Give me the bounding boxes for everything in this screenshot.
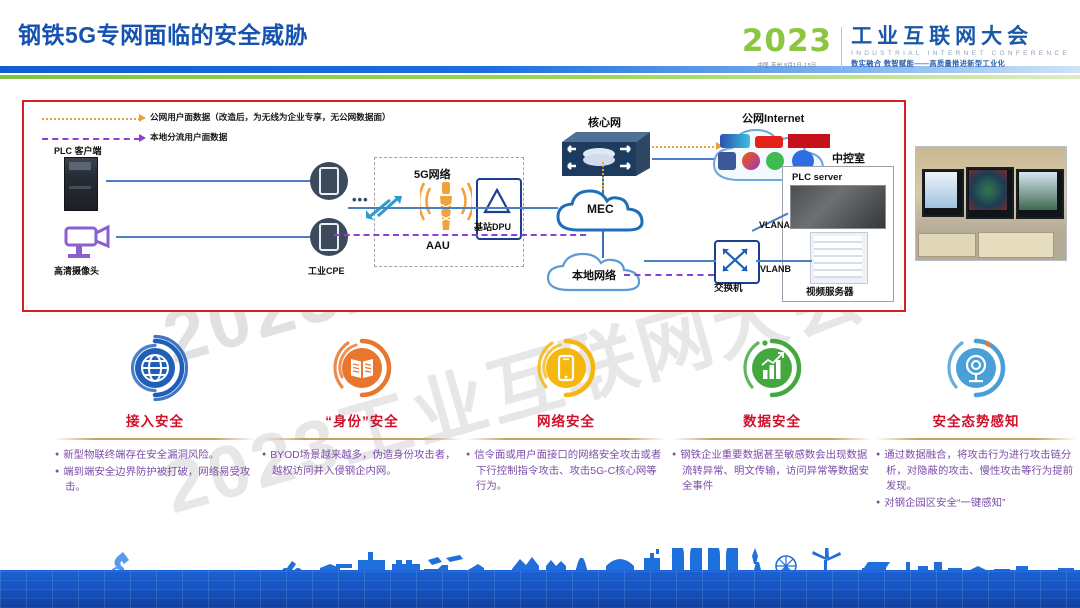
legend-dashed-arrowhead — [139, 134, 146, 142]
legend-dashed-arrow — [42, 138, 140, 140]
legend-label-local: 本地分流用户面数据 — [150, 131, 227, 143]
link-local-to-switch — [644, 260, 716, 262]
core-network-label: 核心网 — [588, 114, 621, 130]
plc-client-icon-detail2 — [69, 186, 91, 189]
radar-icon-wrap — [876, 330, 1076, 406]
logo-slogan: 数实融合 数智赋能——高质量推进新型工业化 — [851, 59, 1070, 69]
link-camera-to-cpe — [116, 236, 310, 238]
globe-icon-wrap — [55, 330, 255, 406]
bar-chart-icon-wrap — [672, 330, 872, 406]
path-core-to-internet — [652, 146, 718, 148]
bullet-item: 新型物联终端存在安全漏洞风险。 — [55, 448, 255, 464]
category-divider — [262, 438, 462, 440]
local-network-label: 本地网络 — [572, 267, 616, 283]
bar-chart-icon — [738, 334, 806, 402]
logo-year: 2023 — [742, 26, 832, 57]
category-bullets: 新型物联终端存在安全漏洞风险。 端到端安全边界防护被打破，网络易受攻击。 — [55, 448, 255, 496]
category-network-security[interactable]: 网络安全 信令面或用户面接口的网络安全攻击或者下行控制指令攻击、攻击5G-C核心… — [466, 330, 666, 496]
book-icon — [328, 334, 396, 402]
category-situation-awareness[interactable]: 安全态势感知 通过数据融合，将攻击行为进行攻击链分析，对隐蔽的攻击、慢性攻击等行… — [876, 330, 1076, 512]
link-local-dashed — [334, 234, 586, 236]
category-bullets: 钢铁企业重要数据甚至敏感数会出现数据流转异常、明文传输，访问异常等数据安全事件 — [672, 448, 872, 495]
photo-console-right — [978, 232, 1054, 258]
dpu-label: 基站DPU — [474, 220, 511, 233]
photo-monitor-3-screen — [1019, 172, 1057, 210]
cpe-label: 工业CPE — [308, 264, 345, 277]
bullet-item: BYOD场景越来越多，伪造身份攻击者，越权访问并入侵钢企内网。 — [262, 448, 462, 479]
category-divider — [876, 438, 1076, 440]
internet-app-icon-netflix — [788, 134, 830, 148]
category-divider — [55, 438, 255, 440]
globe-icon — [121, 334, 189, 402]
footer-grid-pattern — [0, 570, 1080, 608]
switch-label: 交换机 — [714, 280, 743, 294]
link-5g-to-mec — [348, 207, 558, 209]
hd-camera-label: 高清摄像头 — [54, 264, 99, 277]
category-title: 接入安全 — [55, 410, 255, 430]
link-dash-to-switch — [624, 274, 714, 276]
category-divider — [672, 438, 872, 440]
radar-icon — [942, 334, 1010, 402]
category-title: 网络安全 — [466, 410, 666, 430]
phone-icon-top — [319, 167, 339, 195]
bullet-item: 端到端安全边界防护被打破，网络易受攻击。 — [55, 465, 255, 496]
link-plc-to-cpe — [106, 180, 310, 182]
aau-label: AAU — [426, 240, 450, 252]
cpe-node-bottom — [310, 218, 348, 256]
hd-camera-icon — [60, 222, 114, 262]
logo-date: 中国·苏州 8月1日-15日 — [757, 61, 816, 69]
core-network-router-icon — [562, 130, 650, 178]
conference-logo: 2023 中国·苏州 8月1日-15日 工业互联网大会 INDUSTRIAL I… — [742, 26, 1070, 69]
footer-decoration — [0, 548, 1080, 608]
network-architecture-diagram: 公网用户面数据（改造后，为无线为企业专享，无公网数据面） 本地分流用户面数据 P… — [22, 100, 906, 312]
switch-arrows-icon — [720, 246, 750, 274]
phone-icon-bottom — [319, 223, 339, 251]
bullet-item: 通过数据融合，将攻击行为进行攻击链分析，对隐蔽的攻击、慢性攻击等行为提前发现。 — [876, 448, 1076, 495]
internet-app-icon-pokemon — [720, 134, 750, 148]
vlanb-label: VLANB — [760, 264, 791, 274]
photo-monitor-1-screen — [925, 172, 957, 208]
plc-server-photo — [790, 185, 886, 229]
logo-text-block: 工业互联网大会 INDUSTRIAL INTERNET CONFERENCE 数… — [851, 26, 1070, 69]
photo-console-left — [918, 233, 976, 257]
path-mec-orange-vert — [602, 162, 604, 190]
video-server-label: 视频服务器 — [806, 284, 854, 298]
book-icon-wrap — [262, 330, 462, 406]
internet-app-icon-youtube — [755, 136, 783, 148]
plc-client-icon-detail — [69, 162, 91, 170]
bullet-item: 信令面或用户面接口的网络安全攻击或者下行控制指令攻击、攻击5G-C核心网等行为。 — [466, 448, 666, 495]
logo-name-en: INDUSTRIAL INTERNET CONFERENCE — [851, 50, 1070, 57]
category-divider — [466, 438, 666, 440]
legend-dotted-arrow — [42, 118, 140, 120]
bullet-item: 对钢企园区安全“一键感知” — [876, 496, 1076, 512]
legend-dotted-arrowhead — [139, 114, 146, 122]
category-title: “身份”安全 — [262, 410, 462, 430]
logo-name-cn: 工业互联网大会 — [851, 26, 1070, 48]
header-rule-green — [0, 75, 1080, 79]
threat-categories: 接入安全 新型物联终端存在安全漏洞风险。 端到端安全边界防护被打破，网络易受攻击… — [0, 330, 1080, 545]
slide-root: 钢铁5G专网面临的安全威胁 2023 中国·苏州 8月1日-15日 工业互联网大… — [0, 0, 1080, 608]
logo-year-block: 2023 中国·苏州 8月1日-15日 — [742, 26, 832, 69]
vlana-label: VLANA — [759, 220, 790, 230]
category-identity-security[interactable]: “身份”安全 BYOD场景越来越多，伪造身份攻击者，越权访问并入侵钢企内网。 — [262, 330, 462, 480]
link-switch-vlanb — [756, 260, 812, 262]
page-title: 钢铁5G专网面临的安全威胁 — [18, 16, 308, 50]
dpu-triangle-icon — [483, 188, 511, 214]
category-access-security[interactable]: 接入安全 新型物联终端存在安全漏洞风险。 端到端安全边界防护被打破，网络易受攻击… — [55, 330, 255, 497]
mobile-icon-wrap — [466, 330, 666, 406]
video-server-slots — [814, 236, 862, 278]
mobile-icon — [532, 334, 600, 402]
photo-monitor-2-screen — [969, 170, 1007, 210]
control-room-photo — [915, 146, 1067, 261]
category-title: 数据安全 — [672, 410, 872, 430]
internet-app-icon-facebook — [718, 152, 736, 170]
control-room-label: 中控室 — [832, 150, 865, 166]
cpe-node-top — [310, 162, 348, 200]
internet-app-icon-video — [742, 152, 760, 170]
category-data-security[interactable]: 数据安全 钢铁企业重要数据甚至敏感数会出现数据流转异常、明文传输，访问异常等数据… — [672, 330, 872, 496]
plc-client-label: PLC 客户端 — [54, 144, 102, 157]
category-bullets: 通过数据融合，将攻击行为进行攻击链分析，对隐蔽的攻击、慢性攻击等行为提前发现。 … — [876, 448, 1076, 511]
logo-divider — [841, 27, 842, 69]
category-title: 安全态势感知 — [876, 410, 1076, 430]
plc-server-label: PLC server — [792, 172, 842, 183]
mec-label: MEC — [587, 202, 614, 216]
legend-label-public: 公网用户面数据（改造后，为无线为企业专享，无公网数据面） — [150, 111, 391, 123]
category-bullets: BYOD场景越来越多，伪造身份攻击者，越权访问并入侵钢企内网。 — [262, 448, 462, 479]
category-bullets: 信令面或用户面接口的网络安全攻击或者下行控制指令攻击、攻击5G-C核心网等行为。 — [466, 448, 666, 495]
bullet-item: 钢铁企业重要数据甚至敏感数会出现数据流转异常、明文传输，访问异常等数据安全事件 — [672, 448, 872, 495]
